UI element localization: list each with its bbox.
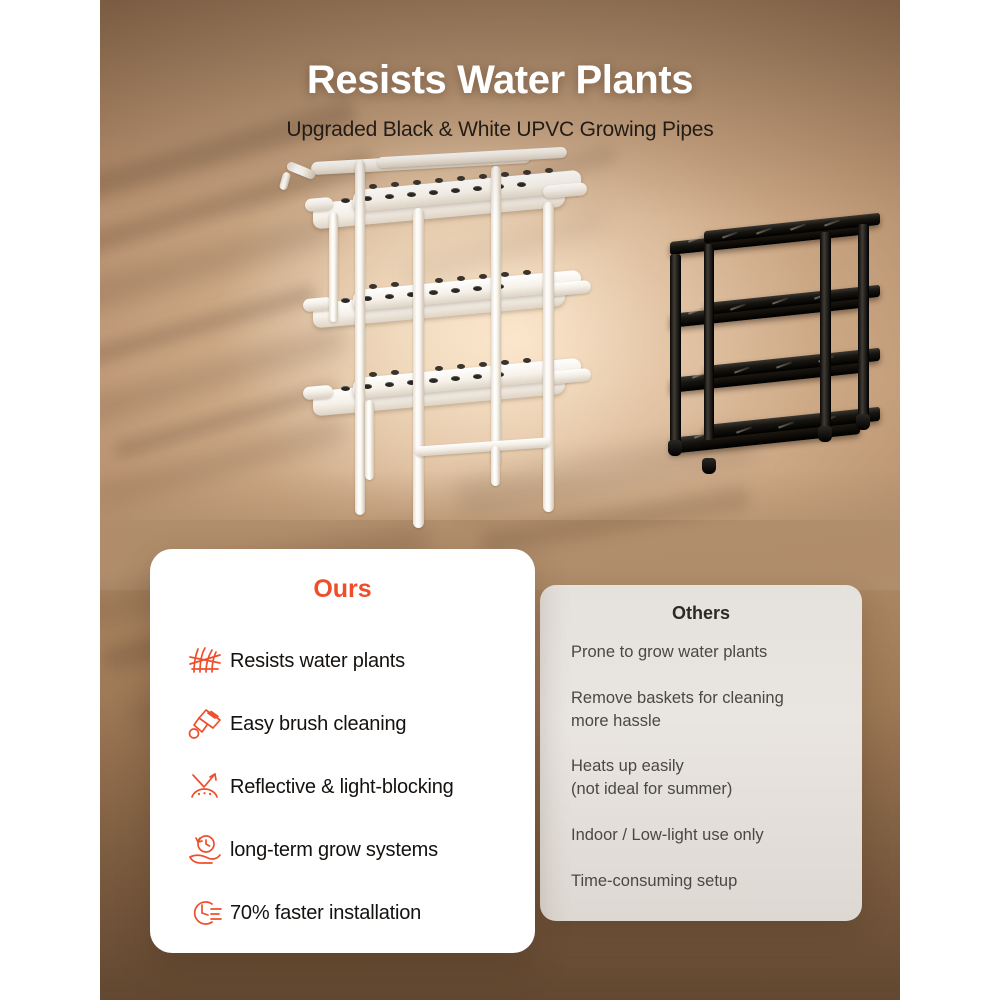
ours-feature-list: Resists water plants Easy brush cleaning xyxy=(180,631,519,946)
planting-hole xyxy=(369,372,377,377)
floor-shadow xyxy=(480,485,750,556)
planting-hole xyxy=(457,276,465,281)
rack-post xyxy=(820,232,831,432)
list-item: Easy brush cleaning xyxy=(180,694,519,754)
wall-shadow-bar xyxy=(100,151,377,263)
planting-hole xyxy=(341,386,350,391)
list-item: Prone to grow water plants xyxy=(571,641,844,664)
planting-hole xyxy=(495,284,504,289)
rack-end-cap xyxy=(543,280,592,297)
wall-shadow-bar xyxy=(401,208,609,289)
planting-hole xyxy=(451,188,460,193)
shelf-wire xyxy=(736,426,752,433)
planting-hole xyxy=(385,194,394,199)
rack-post xyxy=(413,208,424,528)
hand-clock-icon xyxy=(180,829,230,871)
planting-hole xyxy=(523,270,531,275)
rack-return-pipe xyxy=(329,212,338,322)
rack-foot xyxy=(702,458,716,474)
planting-hole xyxy=(545,168,553,173)
wall-shadow-bar xyxy=(431,144,619,214)
planting-hole xyxy=(391,182,399,187)
light-reflect-icon xyxy=(180,766,230,808)
planting-hole xyxy=(413,280,421,285)
list-item: 70% faster installation xyxy=(180,883,519,943)
list-item: long-term grow systems xyxy=(180,820,519,880)
black-upvc-hydroponic-rack xyxy=(660,228,900,493)
shelf-wire xyxy=(772,297,788,304)
planting-hole xyxy=(523,358,531,363)
planting-hole xyxy=(457,176,465,181)
planting-hole xyxy=(363,196,372,201)
planting-hole xyxy=(451,288,460,293)
shelf-tier xyxy=(670,222,860,255)
rack-return-pipe xyxy=(365,400,374,480)
planting-hole xyxy=(385,294,394,299)
rack-tray xyxy=(353,358,581,400)
list-item: Reflective & light-blocking xyxy=(180,757,519,817)
wall-shadow-bar xyxy=(100,99,358,207)
rack-tray xyxy=(313,281,565,329)
planting-hole xyxy=(473,286,482,291)
planting-hole xyxy=(369,284,377,289)
list-item-label: Resists water plants xyxy=(230,650,405,673)
planting-hole xyxy=(523,170,531,175)
list-item-label: Reflective & light-blocking xyxy=(230,776,454,799)
ours-card-title: Ours xyxy=(150,575,535,604)
rack-tray xyxy=(353,170,581,213)
rack-tray xyxy=(313,369,565,417)
shelf-tier xyxy=(670,358,860,393)
floor-shadow xyxy=(454,426,756,517)
wall-shadow-bar xyxy=(112,381,338,460)
page-title: Resists Water Plants xyxy=(0,58,1000,103)
algae-blocked-icon xyxy=(180,640,230,682)
planting-hole xyxy=(413,180,421,185)
rack-foot xyxy=(668,440,682,456)
list-item-label: long-term grow systems xyxy=(230,839,438,862)
planting-hole xyxy=(407,380,416,385)
rack-post xyxy=(670,254,681,446)
rack-post xyxy=(355,160,365,515)
shelf-wire xyxy=(778,421,794,428)
planting-hole xyxy=(473,374,482,379)
rack-brace-post xyxy=(491,446,500,486)
planting-hole xyxy=(451,376,460,381)
planting-hole xyxy=(341,298,350,303)
white-upvc-hydroponic-rack xyxy=(295,150,605,530)
shelf-wire xyxy=(790,223,806,230)
shelf-wire xyxy=(688,307,704,314)
planting-hole xyxy=(413,368,421,373)
planting-hole xyxy=(495,372,504,377)
rack-pipe xyxy=(311,150,531,175)
planting-hole xyxy=(363,296,372,301)
rack-brace xyxy=(415,437,550,456)
planting-hole xyxy=(501,272,509,277)
planting-hole xyxy=(363,384,372,389)
shelf-wire xyxy=(756,227,772,234)
rack-end-cap xyxy=(302,297,333,313)
wall-shadow-bar xyxy=(100,211,338,323)
rack-end-cap xyxy=(543,368,592,385)
list-item: Resists water plants xyxy=(180,631,519,691)
rack-foot xyxy=(818,426,832,442)
wall-shadow-bar xyxy=(100,417,348,512)
planting-hole xyxy=(435,278,443,283)
list-item: Heats up easily (not ideal for summer) xyxy=(571,755,844,801)
list-item: Indoor / Low-light use only xyxy=(571,824,844,847)
shelf-tier xyxy=(704,285,880,315)
planting-hole xyxy=(495,184,504,189)
shelf-wire xyxy=(824,219,840,226)
rack-post xyxy=(543,202,554,512)
rack-post xyxy=(704,244,714,440)
shelf-wire xyxy=(820,415,836,422)
planting-hole xyxy=(479,274,487,279)
planting-hole xyxy=(479,362,487,367)
rack-pipe xyxy=(377,147,567,169)
planting-hole xyxy=(457,364,465,369)
list-item: Time-consuming setup xyxy=(571,870,844,893)
planting-hole xyxy=(501,360,509,365)
wall-shadow-bar xyxy=(100,325,348,424)
planting-hole xyxy=(391,282,399,287)
planting-hole xyxy=(385,382,394,387)
shelf-wire xyxy=(722,231,738,238)
planting-hole xyxy=(341,198,350,203)
list-item-label: Easy brush cleaning xyxy=(230,713,406,736)
others-comparison-card: Others Prone to grow water plants Remove… xyxy=(540,585,862,921)
planting-hole xyxy=(407,192,416,197)
shelf-tier xyxy=(670,294,860,328)
shelf-wire xyxy=(730,303,746,310)
shelf-wire xyxy=(688,235,704,242)
shelf-tier xyxy=(704,213,880,243)
rack-end-cap xyxy=(302,385,333,401)
rack-end-cap xyxy=(304,197,333,212)
others-feature-list: Prone to grow water plants Remove basket… xyxy=(571,641,844,915)
shelf-tier xyxy=(670,418,860,454)
ours-comparison-card: Ours Resists water plants xyxy=(150,549,535,953)
planting-hole xyxy=(429,290,438,295)
planting-hole xyxy=(479,174,487,179)
shelf-wire xyxy=(692,371,708,378)
shelf-tier xyxy=(704,407,880,439)
rack-end-cap xyxy=(543,182,588,199)
rack-inlet-elbow xyxy=(285,161,316,181)
planting-hole xyxy=(407,292,416,297)
fast-clock-icon xyxy=(180,892,230,934)
shelf-tier xyxy=(704,348,880,379)
shelf-wire xyxy=(776,361,792,368)
planting-hole xyxy=(473,186,482,191)
rack-tray xyxy=(353,270,581,312)
rack-tray xyxy=(313,181,565,230)
shelf-wire xyxy=(818,355,834,362)
planting-hole xyxy=(517,182,526,187)
planting-hole xyxy=(435,366,443,371)
planting-hole xyxy=(391,370,399,375)
planting-hole xyxy=(429,190,438,195)
rack-inlet-elbow xyxy=(279,171,292,191)
shelf-wire xyxy=(694,431,710,438)
planting-hole xyxy=(501,172,509,177)
shelf-wire xyxy=(814,292,830,299)
planting-hole xyxy=(429,378,438,383)
shelf-wire xyxy=(734,366,750,373)
planting-hole xyxy=(369,184,377,189)
page-subtitle: Upgraded Black & White UPVC Growing Pipe… xyxy=(0,118,1000,142)
list-item: Remove baskets for cleaning more hassle xyxy=(571,687,844,733)
infographic-canvas: Resists Water Plants Upgraded Black & Wh… xyxy=(0,0,1000,1000)
others-card-title: Others xyxy=(540,603,862,624)
paintbrush-icon xyxy=(180,703,230,745)
wall-shadow-bar xyxy=(100,284,318,370)
planting-hole xyxy=(435,178,443,183)
rack-post xyxy=(858,224,869,420)
light-pool xyxy=(220,120,650,520)
list-item-label: 70% faster installation xyxy=(230,902,421,925)
rack-foot xyxy=(856,414,870,430)
rack-post xyxy=(491,166,501,466)
